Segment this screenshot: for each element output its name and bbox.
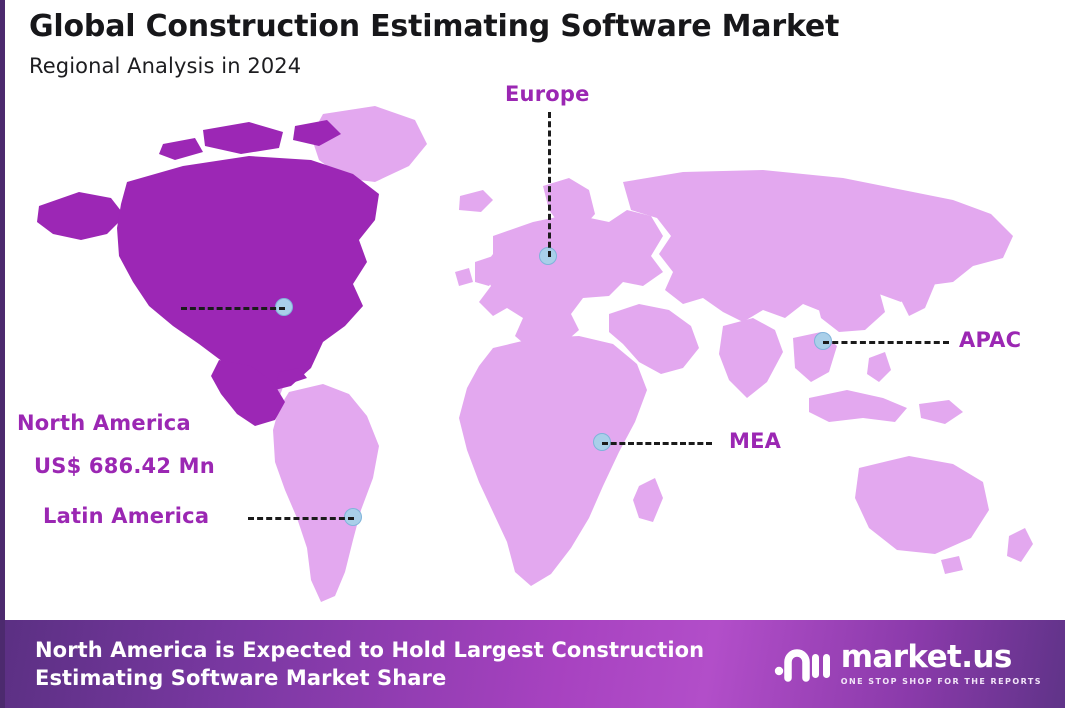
- map-highlighted-region-north-america: [37, 120, 379, 426]
- world-map: [23, 86, 1053, 606]
- footer-banner: North America is Expected to Hold Larges…: [5, 620, 1065, 708]
- region-label-apac: APAC: [959, 328, 1021, 352]
- footer-headline-line-1: North America is Expected to Hold Larges…: [35, 636, 704, 664]
- infographic-page: Global Construction Estimating Software …: [0, 0, 1065, 708]
- connector-north-america: [181, 307, 285, 310]
- market-us-logo[interactable]: market.us ONE STOP SHOP FOR THE REPORTS: [774, 642, 1052, 686]
- region-label-latin-america: Latin America: [43, 504, 209, 528]
- region-label-europe: Europe: [505, 82, 590, 106]
- logo-text-wrap: market.us ONE STOP SHOP FOR THE REPORTS: [841, 642, 1042, 686]
- footer-headline-line-2: Estimating Software Market Share: [35, 664, 704, 692]
- connector-apac: [823, 341, 949, 344]
- region-label-mea: MEA: [729, 429, 781, 453]
- page-subtitle: Regional Analysis in 2024: [29, 54, 1065, 78]
- connector-europe: [548, 112, 551, 257]
- connector-latin-america: [248, 517, 354, 520]
- header: Global Construction Estimating Software …: [5, 0, 1065, 78]
- logo-wordmark: market.us: [841, 642, 1012, 673]
- logo-tagline: ONE STOP SHOP FOR THE REPORTS: [841, 677, 1042, 686]
- region-label-north-america: North America: [17, 411, 191, 435]
- connector-mea: [602, 442, 712, 445]
- footer-headline: North America is Expected to Hold Larges…: [35, 636, 704, 693]
- page-title: Global Construction Estimating Software …: [29, 8, 1065, 46]
- market-us-logo-icon: [774, 644, 832, 684]
- region-value-north-america: US$ 686.42 Mn: [34, 454, 215, 478]
- map-stage: North America US$ 686.42 Mn Europe APAC …: [5, 86, 1065, 620]
